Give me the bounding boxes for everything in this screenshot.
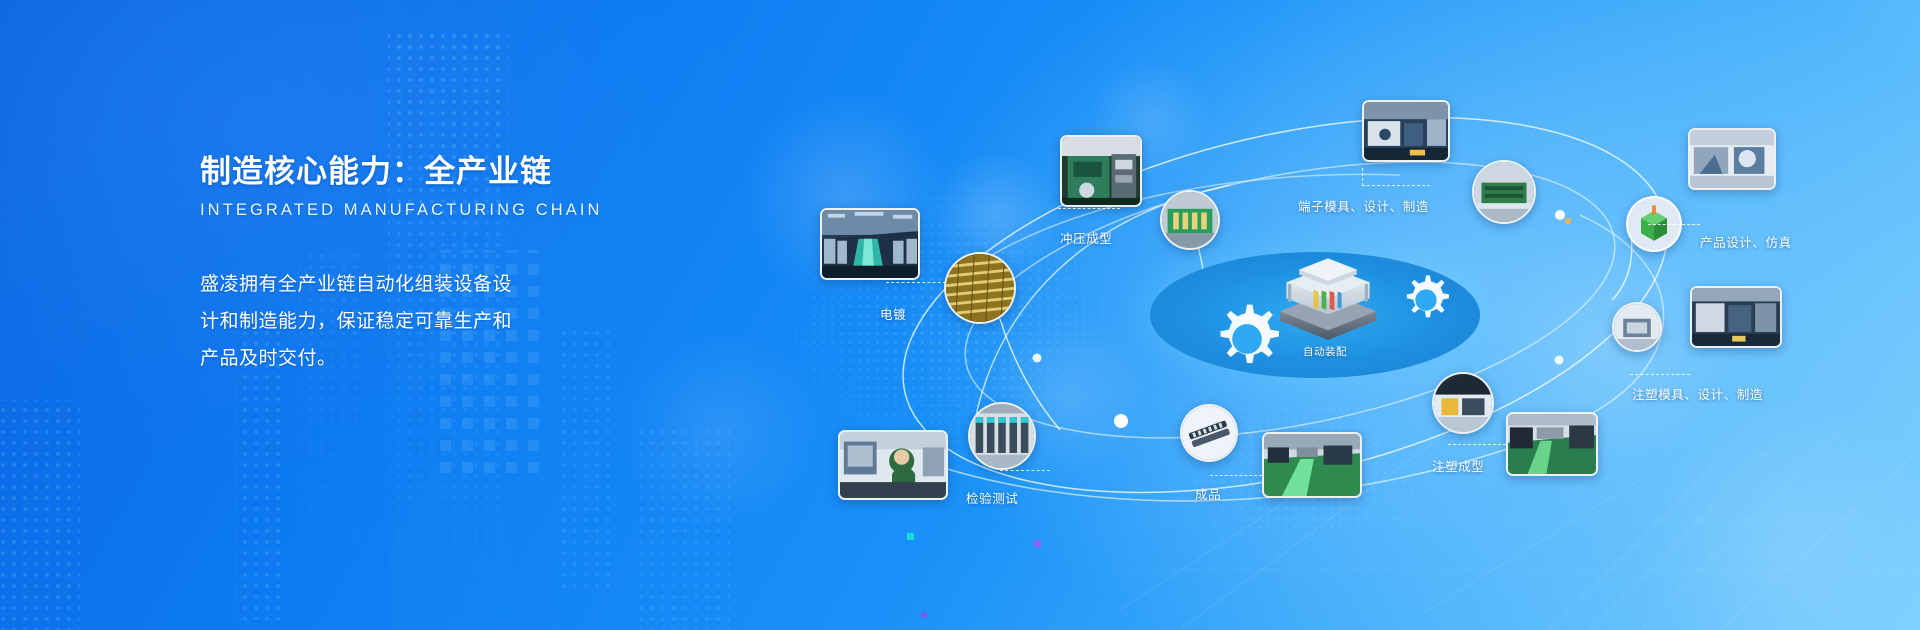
page-title: 制造核心能力：全产业链 (200, 146, 620, 191)
node-label-electroplating: 电镀 (880, 304, 906, 323)
dashed-connector-injection-mold (1630, 374, 1690, 375)
node-thumb-product-design-photo[interactable] (1688, 128, 1776, 190)
node-thumb-inspection-photo[interactable] (838, 430, 948, 500)
node-label-injection-forming: 注塑成型 (1432, 456, 1484, 475)
dashed-connector-stamping (1058, 208, 1120, 209)
banner-description: 盛凌拥有全产业链自动化组装设备设 计和制造能力，保证稳定可靠生产和 产品及时交付… (200, 266, 560, 377)
node-thumb-stamping-detail[interactable] (1160, 190, 1220, 250)
description-line: 产品及时交付。 (200, 340, 560, 377)
node-thumb-injection-forming[interactable] (1506, 412, 1598, 476)
node-thumb-electroplating-coil[interactable] (944, 252, 1016, 324)
node-thumb-stamping[interactable] (1060, 135, 1142, 207)
node-label-terminal-mold: 端子模具、设计、制造 (1298, 196, 1429, 215)
node-thumb-injection-mold-detail[interactable] (1612, 302, 1662, 352)
automatic-assembly-machine (1262, 252, 1394, 340)
node-thumb-injection-mold[interactable] (1690, 286, 1782, 348)
node-thumb-inspection-detail[interactable] (968, 402, 1036, 470)
node-label-stamping: 冲压成型 (1060, 228, 1112, 247)
node-thumb-finished-product-photo[interactable] (1262, 432, 1362, 498)
node-label-product-design: 产品设计、仿真 (1700, 232, 1792, 251)
dashed-connector-terminal (1362, 185, 1430, 186)
dashed-connector-injection-form (1448, 444, 1506, 445)
node-thumb-terminal-mold-detail[interactable] (1472, 160, 1536, 224)
node-label-inspection: 检验测试 (966, 488, 1018, 507)
node-thumb-finished-product[interactable] (1180, 404, 1238, 462)
gear-icon-small (1398, 272, 1454, 328)
description-line: 盛凌拥有全产业链自动化组装设备设 (200, 266, 560, 303)
node-label-injection-mold: 注塑模具、设计、制造 (1632, 384, 1763, 403)
node-thumb-terminal-mold[interactable] (1362, 100, 1450, 162)
page-subtitle: INTEGRATED MANUFACTURING CHAIN (200, 201, 620, 220)
dashed-connector-design (1648, 224, 1700, 225)
node-thumb-electroplating-photo[interactable] (820, 208, 920, 280)
center-label: 自动装配 (1303, 344, 1347, 359)
dashed-connector-inspection (1000, 470, 1050, 471)
dashed-connector-electroplating (886, 282, 946, 283)
dashed-connector-terminal-v (1362, 168, 1363, 186)
node-label-finished-product: 成品 (1195, 484, 1221, 503)
node-thumb-injection-forming-detail[interactable] (1432, 372, 1494, 434)
banner-stage: 制造核心能力：全产业链 INTEGRATED MANUFACTURING CHA… (0, 0, 1920, 630)
dashed-connector-finished (1210, 475, 1262, 476)
description-line: 计和制造能力，保证稳定可靠生产和 (200, 303, 560, 340)
banner-copy: 制造核心能力：全产业链 INTEGRATED MANUFACTURING CHA… (200, 146, 620, 377)
